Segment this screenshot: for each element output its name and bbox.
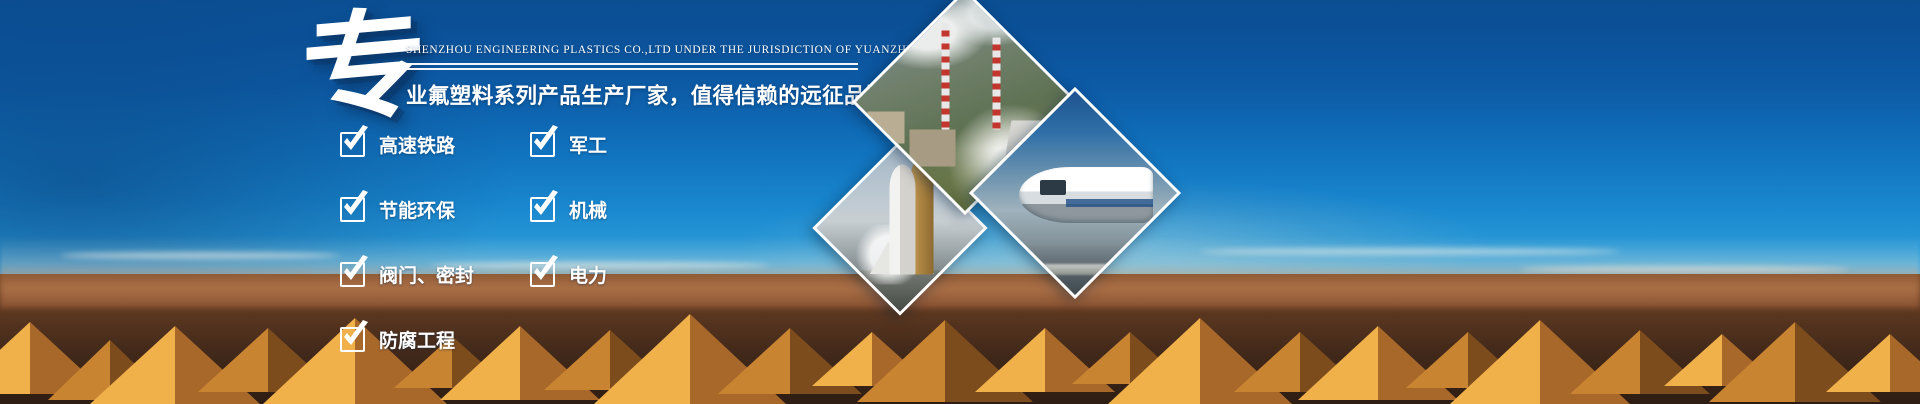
railway-track [969,264,1181,275]
promo-banner: 专 SHENZHOU ENGINEERING PLASTICS CO.,LTD … [0,0,1920,404]
smokestack [942,23,950,129]
photo-collage [0,0,1920,404]
train-nose [1019,167,1153,223]
shuttle-orbiter [889,164,916,274]
plant-building [910,130,956,167]
train-stripe [1066,199,1152,207]
plant-building [868,111,905,143]
train-window [1040,180,1066,195]
smokestack [993,37,1001,129]
